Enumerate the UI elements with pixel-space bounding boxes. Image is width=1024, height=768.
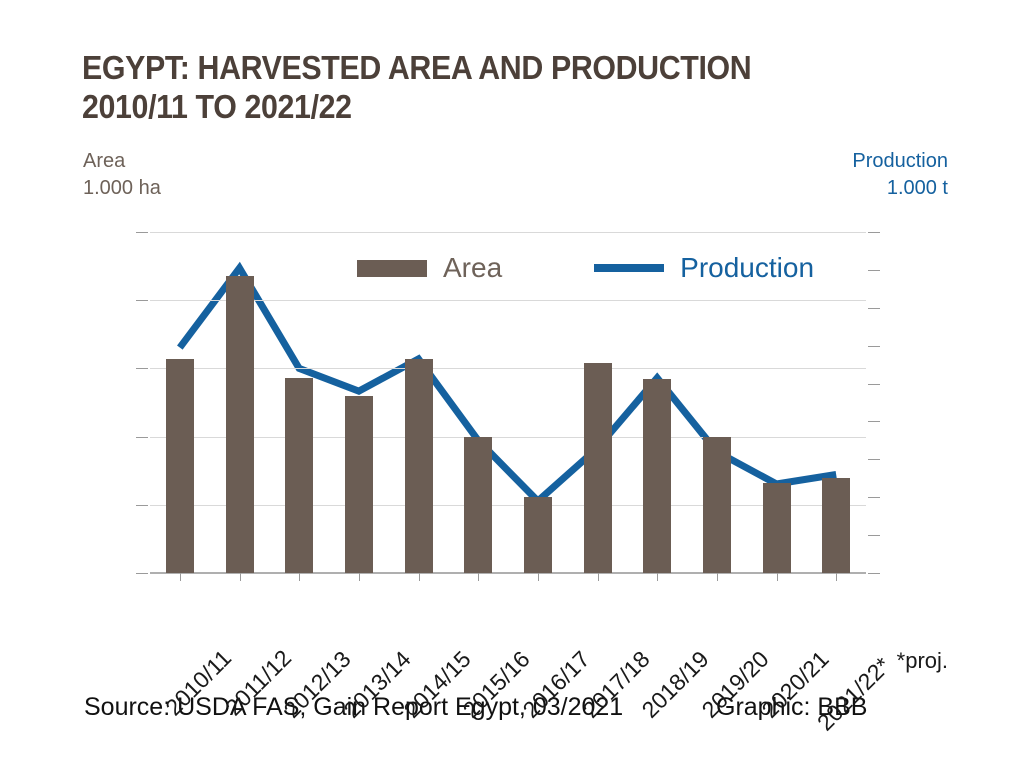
bar-area-2014-15 [405,359,433,573]
bar-area-2010-11 [166,359,194,573]
bar-area-2020-21 [763,483,791,573]
x-axis-tickmark [538,573,539,581]
left-axis-unit: 1.000 ha [83,175,161,202]
x-axis-tickmark [657,573,658,581]
x-axis-tickmark [240,573,241,581]
bar-area-2012-13 [285,378,313,573]
title-line-2: 2010/11 TO 2021/22 [82,87,892,126]
y2-axis-tickmark [868,308,880,309]
bar-area-2017-18 [584,363,612,573]
y2-axis-tickmark [868,270,880,271]
x-axis-tickmark [836,573,837,581]
y-axis-tickmark [136,505,148,506]
production-polyline [180,268,836,501]
right-axis-caption: Production 1.000 t [852,148,948,202]
bar-area-2013-14 [345,396,373,573]
y2-axis-tickmark [868,346,880,347]
y-axis-tickmark [136,368,148,369]
y2-axis-tickmark [868,421,880,422]
gridline [150,368,866,369]
x-axis-baseline [150,572,866,574]
right-axis-name: Production [852,148,948,175]
x-axis-tickmark [299,573,300,581]
x-axis-tickmark [598,573,599,581]
bar-area-2018-19 [643,379,671,573]
bar-area-2015-16 [464,437,492,573]
projection-footnote: *proj. [897,648,948,674]
y-axis-tickmark [136,573,148,574]
page-title: EGYPT: HARVESTED AREA AND PRODUCTION 201… [82,48,962,127]
bar-area-2016-17 [524,497,552,573]
chart-figure: EGYPT: HARVESTED AREA AND PRODUCTION 201… [0,0,1024,768]
y2-axis-tickmark [868,384,880,385]
y2-axis-tickmark [868,497,880,498]
left-axis-name: Area [83,148,161,175]
right-axis-unit: 1.000 t [852,175,948,202]
y-axis-tickmark [136,437,148,438]
y-axis-tickmark [136,232,148,233]
y-axis-tickmark [136,300,148,301]
x-axis-tickmark [359,573,360,581]
production-line-series [150,232,866,573]
title-line-1: EGYPT: HARVESTED AREA AND PRODUCTION [82,48,892,87]
plot-area: 050100150200250020406080100120140160180 [150,232,866,573]
y2-axis-tickmark [868,573,880,574]
gridline [150,300,866,301]
left-axis-caption: Area 1.000 ha [83,148,161,202]
bar-area-2021-22- [822,478,850,573]
gridline [150,437,866,438]
bar-area-2019-20 [703,437,731,573]
gridline [150,232,866,233]
y2-axis-tickmark [868,535,880,536]
bar-area-2011-12 [226,276,254,573]
gridline [150,505,866,506]
x-axis-tickmark [777,573,778,581]
y2-axis-tickmark [868,459,880,460]
x-axis-tickmark [419,573,420,581]
x-axis-tickmark [180,573,181,581]
x-axis-tickmark [478,573,479,581]
y2-axis-tickmark [868,232,880,233]
x-axis-tickmark [717,573,718,581]
